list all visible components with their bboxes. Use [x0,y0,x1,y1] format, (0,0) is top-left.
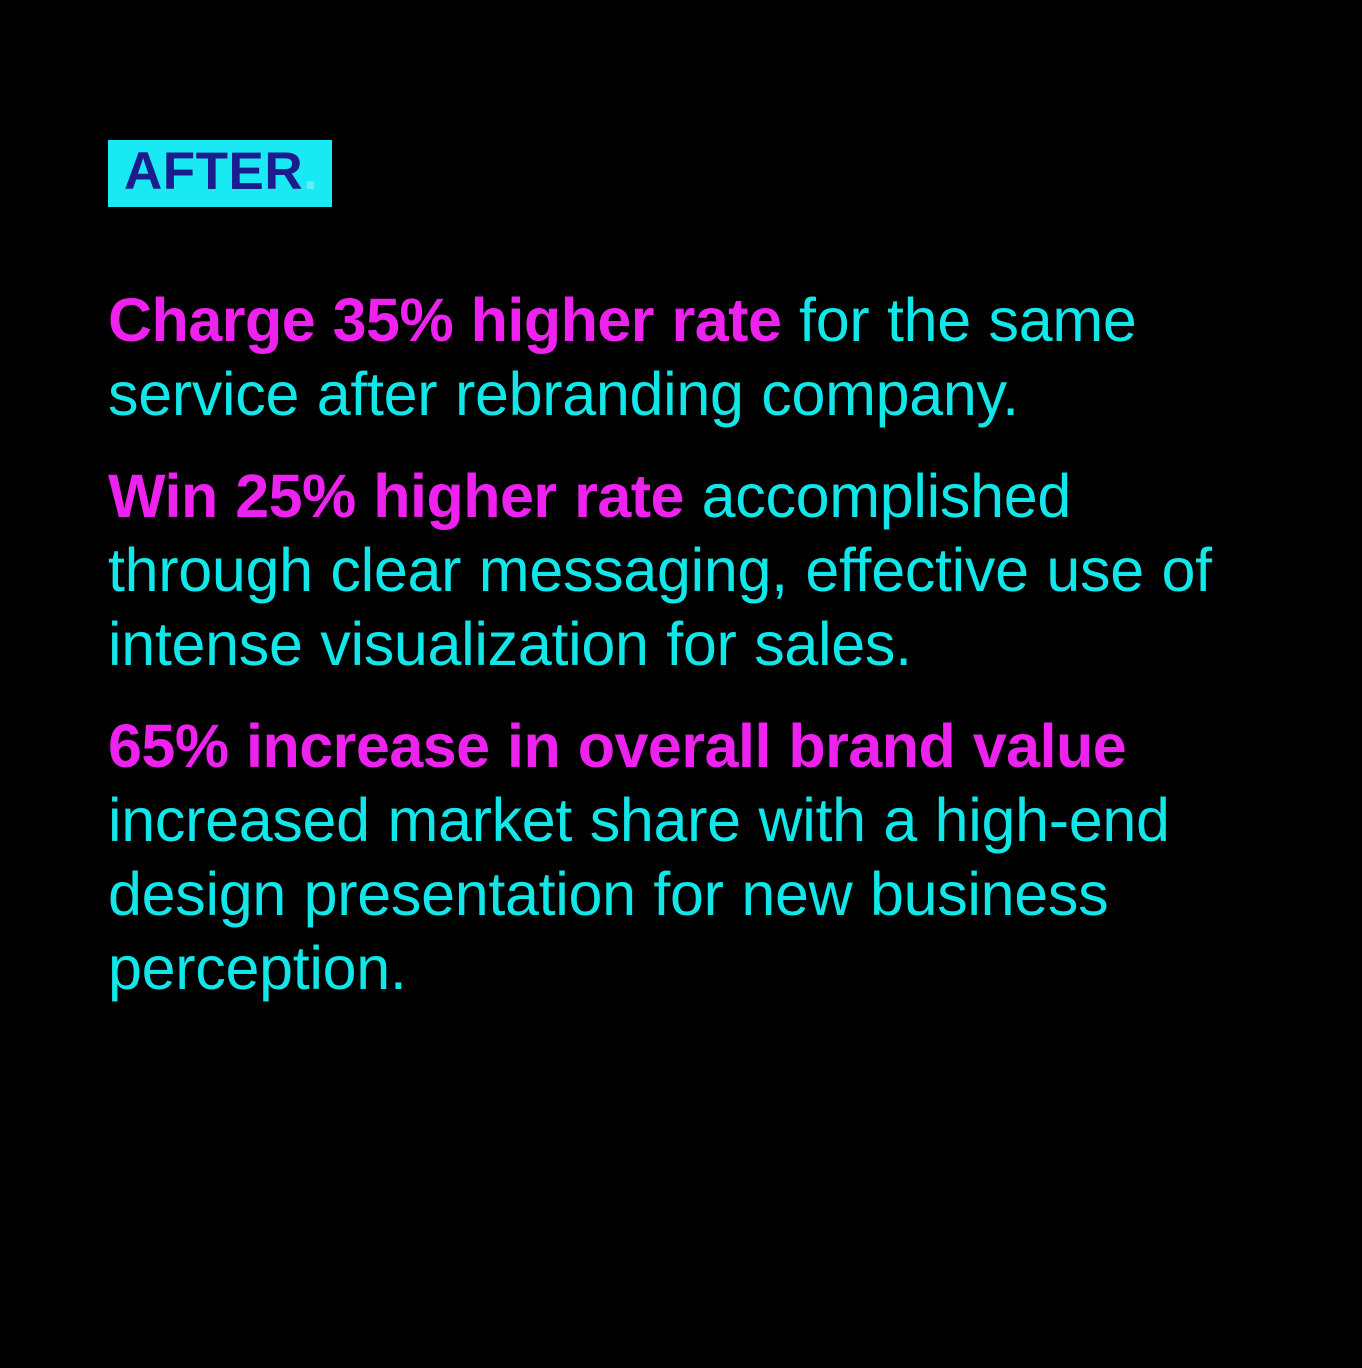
result-item-charge-rate: Charge 35% higher rate for the same serv… [108,283,1268,431]
result-item-brand-value: 65% increase in overall brand value incr… [108,709,1268,1005]
results-body: Charge 35% higher rate for the same serv… [108,283,1268,1005]
result-text-brand-value: increased market share with a high-end d… [108,786,1170,1002]
after-label-badge: AFTER. [108,140,332,207]
slide-root: AFTER. Charge 35% higher rate for the sa… [0,0,1362,1368]
result-highlight-charge-rate: Charge 35% higher rate [108,286,781,354]
result-highlight-brand-value: 65% increase in overall brand value [108,712,1126,780]
after-label-badge-dot: . [303,145,318,198]
result-highlight-win-rate: Win 25% higher rate [108,462,684,530]
after-label-badge-text: AFTER [124,145,303,198]
result-item-win-rate: Win 25% higher rate accomplished through… [108,459,1268,681]
